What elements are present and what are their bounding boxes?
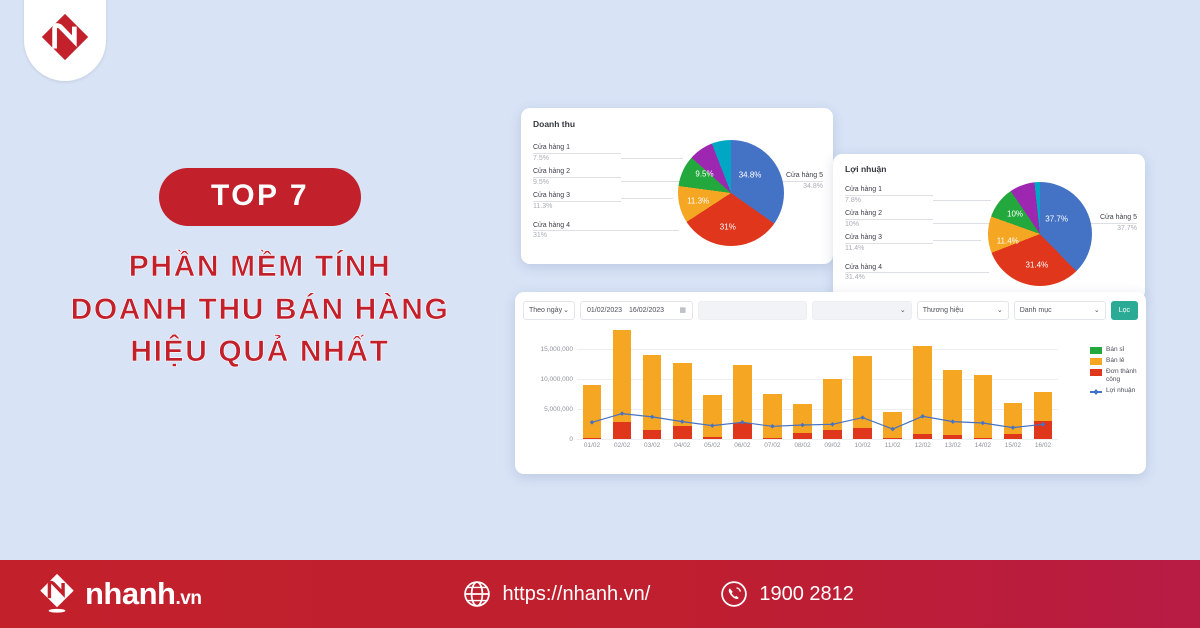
pie-label-value: 31.4% [845, 272, 933, 283]
profit-pie-card: Lợi nhuận Cửa hàng 1 7.8% Cửa hàng 2 10%… [833, 154, 1145, 300]
pie-label-name: Cửa hàng 1 [845, 186, 933, 195]
pie-label-value: 9.5% [533, 177, 621, 188]
pie-label-item: Cửa hàng 4 31.4% [845, 264, 933, 284]
period-select-label: Theo ngày [529, 307, 562, 314]
x-axis-tick: 10/02 [848, 442, 878, 449]
headline-line-1: PHẦN MỀM TÍNH [0, 246, 520, 289]
revenue-pie-left-labels: Cửa hàng 1 7.5% Cửa hàng 2 9.5% Cửa hàng… [533, 144, 621, 246]
y-axis-tick: 5,000,000 [515, 406, 573, 413]
pie-slice-label: 11.3% [687, 197, 709, 206]
legend-item: Bán sỉ [1090, 346, 1140, 354]
card-title-profit: Lợi nhuận [845, 164, 886, 174]
chevron-down-icon: ⌄ [1094, 306, 1100, 314]
profit-pie-chart: 37.7% 31.4% 11.4% 10% [988, 182, 1092, 286]
leader-line [933, 272, 989, 273]
date-from-value: 01/02/2023 [587, 307, 622, 314]
x-axis-tick: 08/02 [787, 442, 817, 449]
y-axis-tick: 15,000,000 [515, 346, 573, 353]
date-to-value: 16/02/2023 [629, 307, 664, 314]
bar-chart-plot-area: 15,000,000 10,000,000 5,000,000 0 01/020… [515, 332, 1146, 474]
pie-label-item: Cửa hàng 1 7.8% [845, 186, 933, 206]
pie-label-value: 11.3% [533, 201, 621, 212]
pie-slice-label: 34.8% [739, 170, 762, 179]
footer-logo: nhanh.vn [38, 573, 201, 615]
pie-label-value: 11.4% [845, 243, 933, 254]
headline-line-3: HIỆU QUẢ NHẤT [0, 331, 520, 374]
pie-label-item: Cửa hàng 3 11.3% [533, 192, 621, 212]
pie-slice-label: 37.7% [1045, 215, 1068, 224]
legend-swatch-wholesale [1090, 347, 1102, 354]
pie-slice-label: 10% [1007, 210, 1023, 219]
globe-icon [463, 580, 491, 608]
x-axis-tick: 12/02 [908, 442, 938, 449]
pie-label-name: Cửa hàng 3 [533, 192, 621, 201]
profit-line-series [577, 332, 1058, 439]
pie-slice-label: 11.4% [997, 237, 1019, 246]
chevron-down-icon: ⌄ [563, 306, 569, 314]
x-axis-tick: 04/02 [667, 442, 697, 449]
brand-select[interactable]: Thương hiệu ⌄ [917, 301, 1009, 320]
x-axis-tick: 02/02 [607, 442, 637, 449]
nhanh-diamond-n-icon [39, 11, 91, 63]
x-axis-tick: 09/02 [818, 442, 848, 449]
legend-item: Lợi nhuận [1090, 387, 1140, 395]
headline-line-2: DOANH THU BÁN HÀNG [0, 289, 520, 332]
calendar-icon[interactable]: ▦ [679, 306, 686, 314]
revenue-pie-card: Doanh thu Cửa hàng 1 7.5% Cửa hàng 2 9.5… [521, 108, 833, 264]
footer-phone[interactable]: 1900 2812 [720, 580, 854, 608]
card-title-revenue: Doanh thu [533, 119, 575, 129]
pie-label-value: 10% [845, 219, 933, 230]
footer-wordmark: nhanh.vn [85, 576, 201, 612]
x-axis-tick: 05/02 [697, 442, 727, 449]
x-axis-tick: 06/02 [727, 442, 757, 449]
brand-shield-logo [24, 0, 106, 81]
revenue-pie-chart: 34.8% 31% 11.3% 9.5% [678, 140, 784, 246]
x-axis-ticks: 01/0202/0203/0204/0205/0206/0207/0208/02… [577, 442, 1058, 456]
pie-label-value: 7.8% [845, 195, 933, 206]
brand-select-label: Thương hiệu [923, 307, 963, 314]
y-axis-tick: 10,000,000 [515, 376, 573, 383]
store-select[interactable]: ⌄ [812, 301, 912, 320]
legend-label: Bán lẻ [1106, 357, 1124, 364]
pie-label-name: Cửa hàng 4 [533, 222, 621, 231]
legend-item: Bán lẻ [1090, 357, 1140, 365]
headline-block: TOP 7 PHẦN MỀM TÍNH DOANH THU BÁN HÀNG H… [0, 168, 520, 374]
footer-wordmark-text: nhanh [85, 576, 176, 611]
period-select[interactable]: Theo ngày ⌄ [523, 301, 575, 320]
leader-line [933, 223, 991, 224]
top-badge: TOP 7 [159, 168, 361, 226]
footer-website[interactable]: https://nhanh.vn/ [463, 580, 650, 608]
profit-pie-left-labels: Cửa hàng 1 7.8% Cửa hàng 2 10% Cửa hàng … [845, 186, 933, 288]
pie-slice-label: 31% [720, 222, 736, 231]
leader-line [621, 181, 683, 182]
x-axis-tick: 11/02 [878, 442, 908, 449]
leader-line [621, 198, 673, 199]
x-axis-tick: 13/02 [938, 442, 968, 449]
date-range-input[interactable]: 01/02/2023 16/02/2023 ▦ [580, 301, 693, 320]
legend-item: Đơn thành công [1090, 368, 1140, 384]
footer-phone-text: 1900 2812 [759, 583, 854, 606]
gridline [577, 439, 1058, 440]
bar-chart-toolbar: Theo ngày ⌄ 01/02/2023 16/02/2023 ▦ ⌄ Th… [515, 292, 1146, 328]
phone-circle-icon [720, 580, 748, 608]
x-axis-tick: 14/02 [968, 442, 998, 449]
nhanh-diamond-n-icon [38, 573, 76, 615]
pie-label-item: Cửa hàng 4 31% [533, 222, 621, 242]
x-axis-tick: 15/02 [998, 442, 1028, 449]
pie-label-item: Cửa hàng 2 10% [845, 210, 933, 230]
y-axis-tick: 0 [515, 436, 573, 443]
filter-button[interactable]: Lọc [1111, 301, 1138, 320]
x-axis-tick: 16/02 [1028, 442, 1058, 449]
footer-wordmark-tld: .vn [176, 588, 202, 609]
pie-label-value: 31% [533, 230, 621, 241]
category-select[interactable]: Danh mục ⌄ [1014, 301, 1106, 320]
pie-label-name: Cửa hàng 2 [533, 168, 621, 177]
footer-bar: nhanh.vn https://nhanh.vn/ 1900 2812 [0, 560, 1200, 628]
leader-line [933, 200, 991, 201]
pie-label-item: Cửa hàng 3 11.4% [845, 234, 933, 254]
chevron-down-icon: ⌄ [900, 306, 906, 314]
legend-swatch-profit-line [1090, 388, 1102, 395]
pie-label-name: Cửa hàng 3 [845, 234, 933, 243]
legend-label: Đơn thành công [1106, 368, 1140, 384]
legend-label: Bán sỉ [1106, 346, 1124, 353]
pie-label-name: Cửa hàng 4 [845, 264, 933, 273]
pie-label-name: Cửa hàng 1 [533, 144, 621, 153]
category-select-label: Danh mục [1020, 307, 1052, 314]
employee-select[interactable] [698, 301, 807, 320]
x-axis-tick: 01/02 [577, 442, 607, 449]
sales-bar-chart-card: Theo ngày ⌄ 01/02/2023 16/02/2023 ▦ ⌄ Th… [515, 292, 1146, 474]
legend-label: Lợi nhuận [1106, 387, 1135, 394]
pie-label-item: Cửa hàng 2 9.5% [533, 168, 621, 188]
pie-label-value: 7.5% [533, 153, 621, 164]
x-axis-tick: 07/02 [757, 442, 787, 449]
leader-line [933, 240, 981, 241]
x-axis-tick: 03/02 [637, 442, 667, 449]
pie-slice-label: 31.4% [1026, 261, 1049, 270]
legend-swatch-orders [1090, 369, 1102, 376]
pie-label-name: Cửa hàng 2 [845, 210, 933, 219]
leader-line [621, 230, 679, 231]
pie-slice-label: 9.5% [695, 169, 713, 178]
pie-label-item: Cửa hàng 1 7.5% [533, 144, 621, 164]
leader-line [621, 158, 683, 159]
chevron-down-icon: ⌄ [997, 306, 1003, 314]
chart-legend: Bán sỉ Bán lẻ Đơn thành công Lợi nhuận [1090, 346, 1140, 398]
legend-swatch-retail [1090, 358, 1102, 365]
footer-url-text: https://nhanh.vn/ [502, 583, 650, 606]
